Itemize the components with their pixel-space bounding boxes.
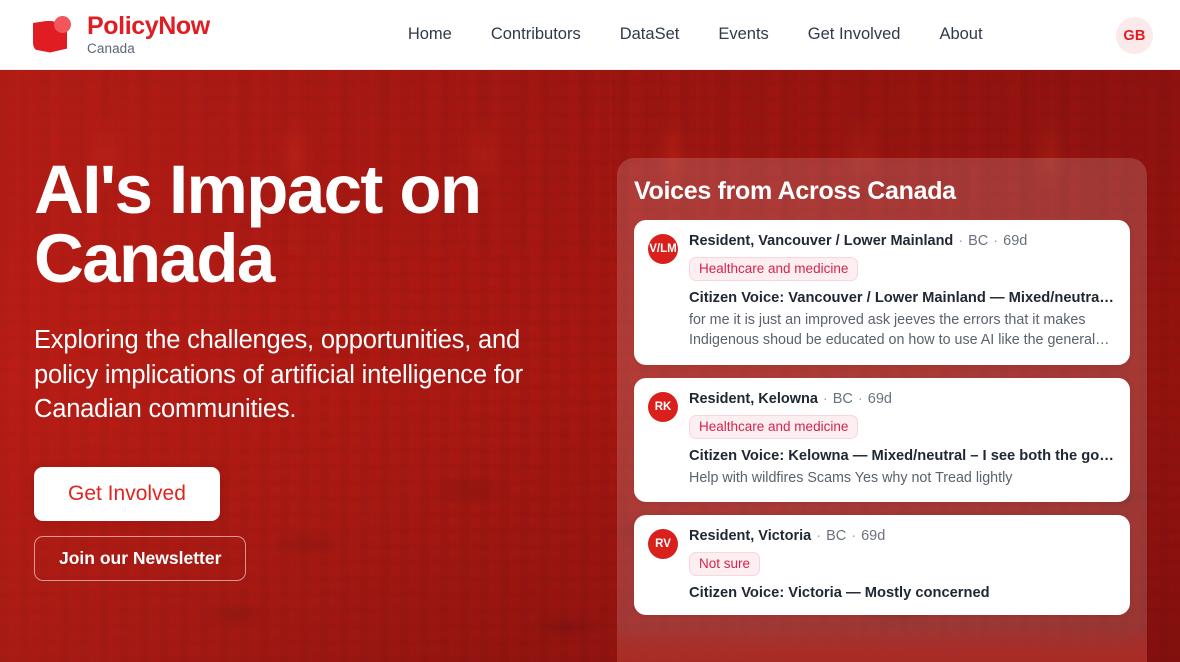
meta-separator-icon: · — [958, 233, 963, 249]
voice-topic-tag: Not sure — [689, 552, 760, 576]
nav-item-dataset[interactable]: DataSet — [620, 25, 680, 44]
voice-author: Resident, Vancouver / Lower Mainland — [689, 233, 953, 249]
voices-list[interactable]: V/LM Resident, Vancouver / Lower Mainlan… — [617, 220, 1147, 662]
voice-age: 69d — [1003, 233, 1027, 249]
nav-item-events[interactable]: Events — [718, 25, 768, 44]
nav-item-contributors[interactable]: Contributors — [491, 25, 581, 44]
brand-subtitle: Canada — [87, 42, 210, 56]
voice-headline: Citizen Voice: Kelowna — Mixed/neutral –… — [689, 448, 1116, 464]
voice-province: BC — [968, 233, 988, 249]
meta-separator-icon: · — [993, 233, 998, 249]
nav-item-get-involved[interactable]: Get Involved — [808, 25, 901, 44]
logo-dot-shape — [54, 16, 71, 33]
brand-name: PolicyNow — [87, 14, 210, 39]
meta-separator-icon: · — [858, 391, 863, 407]
voice-meta: Resident, Victoria·BC·69d — [689, 528, 1116, 544]
voice-meta: Resident, Vancouver / Lower Mainland·BC·… — [689, 233, 1116, 249]
meta-separator-icon: · — [816, 528, 821, 544]
voice-province: BC — [826, 528, 846, 544]
voice-excerpt-line: for me it is just an improved ask jeeves… — [689, 310, 1116, 330]
nav-item-about[interactable]: About — [939, 25, 982, 44]
hero-subtitle: Exploring the challenges, opportunities,… — [34, 323, 554, 427]
brand-text: PolicyNow Canada — [87, 14, 210, 56]
meta-separator-icon: · — [823, 391, 828, 407]
hero-content: AI's Impact on Canada Exploring the chal… — [34, 155, 594, 581]
voice-excerpt: for me it is just an improved ask jeeves… — [689, 310, 1116, 351]
voice-avatar: RV — [648, 529, 678, 559]
voice-author: Resident, Victoria — [689, 528, 811, 544]
voice-excerpt-line: Indigenous shoud be educated on how to u… — [689, 330, 1116, 350]
voice-body: Resident, Vancouver / Lower Mainland·BC·… — [689, 233, 1116, 351]
voice-card[interactable]: V/LM Resident, Vancouver / Lower Mainlan… — [634, 220, 1130, 365]
voice-province: BC — [833, 391, 853, 407]
voice-meta: Resident, Kelowna·BC·69d — [689, 391, 1116, 407]
voice-headline: Citizen Voice: Victoria — Mostly concern… — [689, 585, 1116, 601]
brand-logo[interactable]: PolicyNow Canada — [33, 14, 210, 56]
meta-separator-icon: · — [851, 528, 856, 544]
flag-book-icon — [33, 15, 77, 55]
hero-section: AI's Impact on Canada Exploring the chal… — [0, 70, 1180, 662]
voice-headline: Citizen Voice: Vancouver / Lower Mainlan… — [689, 290, 1116, 306]
voice-avatar: RK — [648, 392, 678, 422]
voice-excerpt-line: Help with wildfires Scams Yes why not Tr… — [689, 468, 1116, 488]
voice-avatar: V/LM — [648, 234, 678, 264]
voice-body: Resident, Victoria·BC·69d Not sure Citiz… — [689, 528, 1116, 601]
user-avatar[interactable]: GB — [1116, 17, 1153, 54]
voice-excerpt: Help with wildfires Scams Yes why not Tr… — [689, 468, 1116, 488]
page-title: AI's Impact on Canada — [34, 155, 594, 293]
voice-topic-tag: Healthcare and medicine — [689, 415, 858, 439]
hero-actions: Get Involved Join our Newsletter — [34, 467, 594, 581]
voice-body: Resident, Kelowna·BC·69d Healthcare and … — [689, 391, 1116, 488]
voice-card[interactable]: RK Resident, Kelowna·BC·69d Healthcare a… — [634, 378, 1130, 502]
voice-card[interactable]: RV Resident, Victoria·BC·69d Not sure Ci… — [634, 515, 1130, 615]
voices-panel: Voices from Across Canada V/LM Resident,… — [617, 158, 1147, 662]
voice-age: 69d — [868, 391, 892, 407]
join-newsletter-button[interactable]: Join our Newsletter — [34, 536, 246, 581]
voice-age: 69d — [861, 528, 885, 544]
voice-author: Resident, Kelowna — [689, 391, 818, 407]
get-involved-button[interactable]: Get Involved — [34, 467, 220, 521]
voices-panel-title: Voices from Across Canada — [634, 177, 956, 206]
main-nav: Home Contributors DataSet Events Get Inv… — [408, 25, 983, 44]
voice-topic-tag: Healthcare and medicine — [689, 257, 858, 281]
site-header: PolicyNow Canada Home Contributors DataS… — [0, 0, 1180, 70]
nav-item-home[interactable]: Home — [408, 25, 452, 44]
